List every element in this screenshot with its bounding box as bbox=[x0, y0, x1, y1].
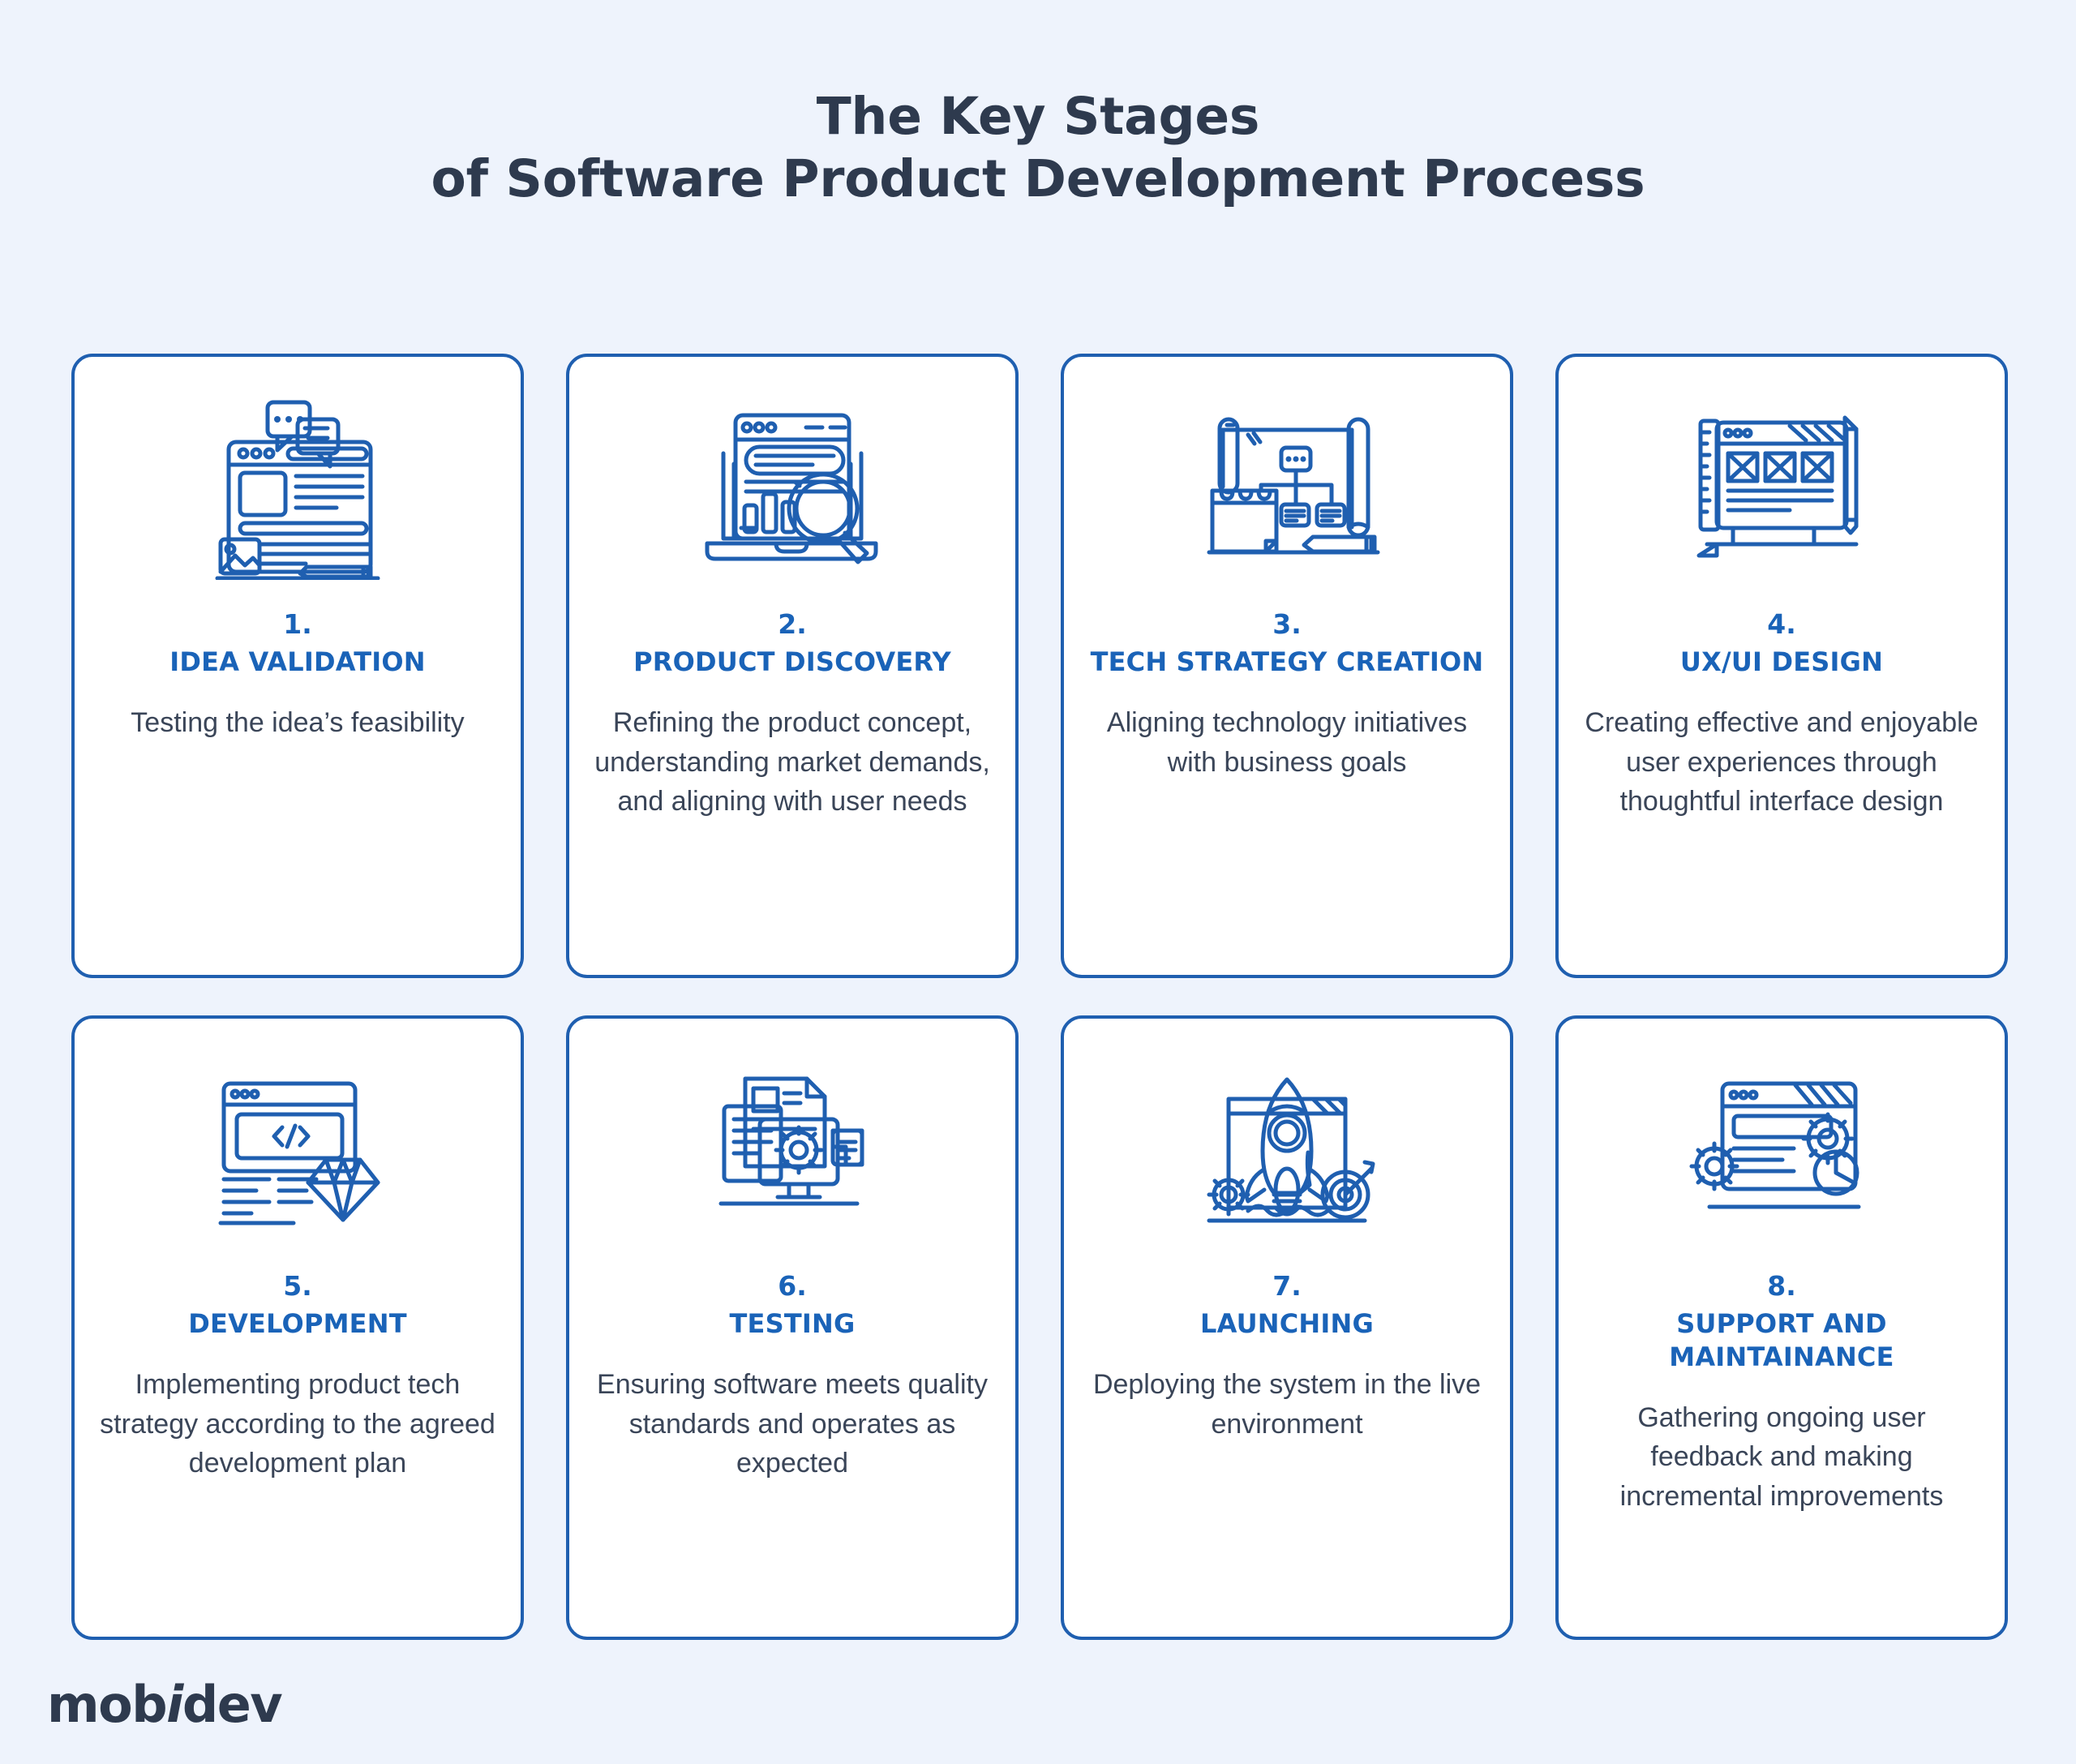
stage-description: Refining the product concept, understand… bbox=[590, 703, 994, 821]
stage-title: IDEA VALIDATION bbox=[169, 646, 425, 679]
stage-title: UX/UI DESIGN bbox=[1680, 646, 1883, 679]
stage-description: Implementing product tech strategy accor… bbox=[96, 1365, 500, 1483]
stage-number: 7. bbox=[1272, 1272, 1302, 1301]
stage-card-1[interactable]: 1. IDEA VALIDATION Testing the idea’s fe… bbox=[71, 354, 524, 978]
stage-description: Deploying the system in the live environ… bbox=[1085, 1365, 1489, 1444]
stage-title: SUPPORT AND MAINTAINANCE bbox=[1580, 1307, 1984, 1374]
stage-card-3[interactable]: 3. TECH STRATEGY CREATION Aligning techn… bbox=[1061, 354, 1513, 978]
stage-card-5[interactable]: 5. DEVELOPMENT Implementing product tech… bbox=[71, 1015, 524, 1640]
stage-number: 6. bbox=[778, 1272, 807, 1301]
stage-card-8[interactable]: 8. SUPPORT AND MAINTAINANCE Gathering on… bbox=[1555, 1015, 2008, 1640]
monitor-gear-documents-icon bbox=[590, 1046, 994, 1249]
stage-title: TECH STRATEGY CREATION bbox=[1091, 646, 1484, 679]
stage-number: 5. bbox=[283, 1272, 312, 1301]
stage-card-6[interactable]: 6. TESTING Ensuring software meets quali… bbox=[566, 1015, 1019, 1640]
code-window-diamond-icon bbox=[96, 1046, 500, 1249]
title-line-1: The Key Stages bbox=[0, 85, 2076, 148]
rocket-gear-target-icon bbox=[1085, 1046, 1489, 1249]
stage-title: DEVELOPMENT bbox=[188, 1307, 406, 1341]
logo-text-part-3: dev bbox=[182, 1675, 281, 1734]
logo-text-part-1: mob bbox=[47, 1675, 166, 1734]
logo-text-part-2: i bbox=[166, 1675, 182, 1734]
stage-title: PRODUCT DISCOVERY bbox=[633, 646, 951, 679]
laptop-analytics-magnifier-icon bbox=[590, 384, 994, 587]
browser-chat-article-icon bbox=[96, 384, 500, 587]
stage-title: LAUNCHING bbox=[1200, 1307, 1374, 1341]
infographic-page: The Key Stages of Software Product Devel… bbox=[0, 0, 2076, 1764]
browser-gear-chart-icon bbox=[1580, 1046, 1984, 1249]
page-title: The Key Stages of Software Product Devel… bbox=[0, 0, 2076, 211]
stage-number: 1. bbox=[283, 610, 312, 639]
stage-description: Testing the idea’s feasibility bbox=[131, 703, 464, 742]
stage-number: 3. bbox=[1272, 610, 1302, 639]
stages-grid: 1. IDEA VALIDATION Testing the idea’s fe… bbox=[71, 354, 2005, 1640]
stage-number: 2. bbox=[778, 610, 807, 639]
stage-card-2[interactable]: 2. PRODUCT DISCOVERY Refining the produc… bbox=[566, 354, 1019, 978]
stage-number: 4. bbox=[1767, 610, 1796, 639]
mobidev-logo: mobidev bbox=[47, 1680, 281, 1730]
stage-card-4[interactable]: 4. UX/UI DESIGN Creating effective and e… bbox=[1555, 354, 2008, 978]
stage-description: Aligning technology initiatives with bus… bbox=[1085, 703, 1489, 782]
stage-description: Ensuring software meets quality standard… bbox=[590, 1365, 994, 1483]
stage-number: 8. bbox=[1767, 1272, 1796, 1301]
title-line-2: of Software Product Development Process bbox=[0, 148, 2076, 210]
stage-card-7[interactable]: 7. LAUNCHING Deploying the system in the… bbox=[1061, 1015, 1513, 1640]
wireframe-ruler-pencil-icon bbox=[1580, 384, 1984, 587]
blueprint-diagram-pencil-icon bbox=[1085, 384, 1489, 587]
stage-description: Creating effective and enjoyable user ex… bbox=[1580, 703, 1984, 821]
stage-description: Gathering ongoing user feedback and maki… bbox=[1580, 1398, 1984, 1516]
stage-title: TESTING bbox=[730, 1307, 856, 1341]
